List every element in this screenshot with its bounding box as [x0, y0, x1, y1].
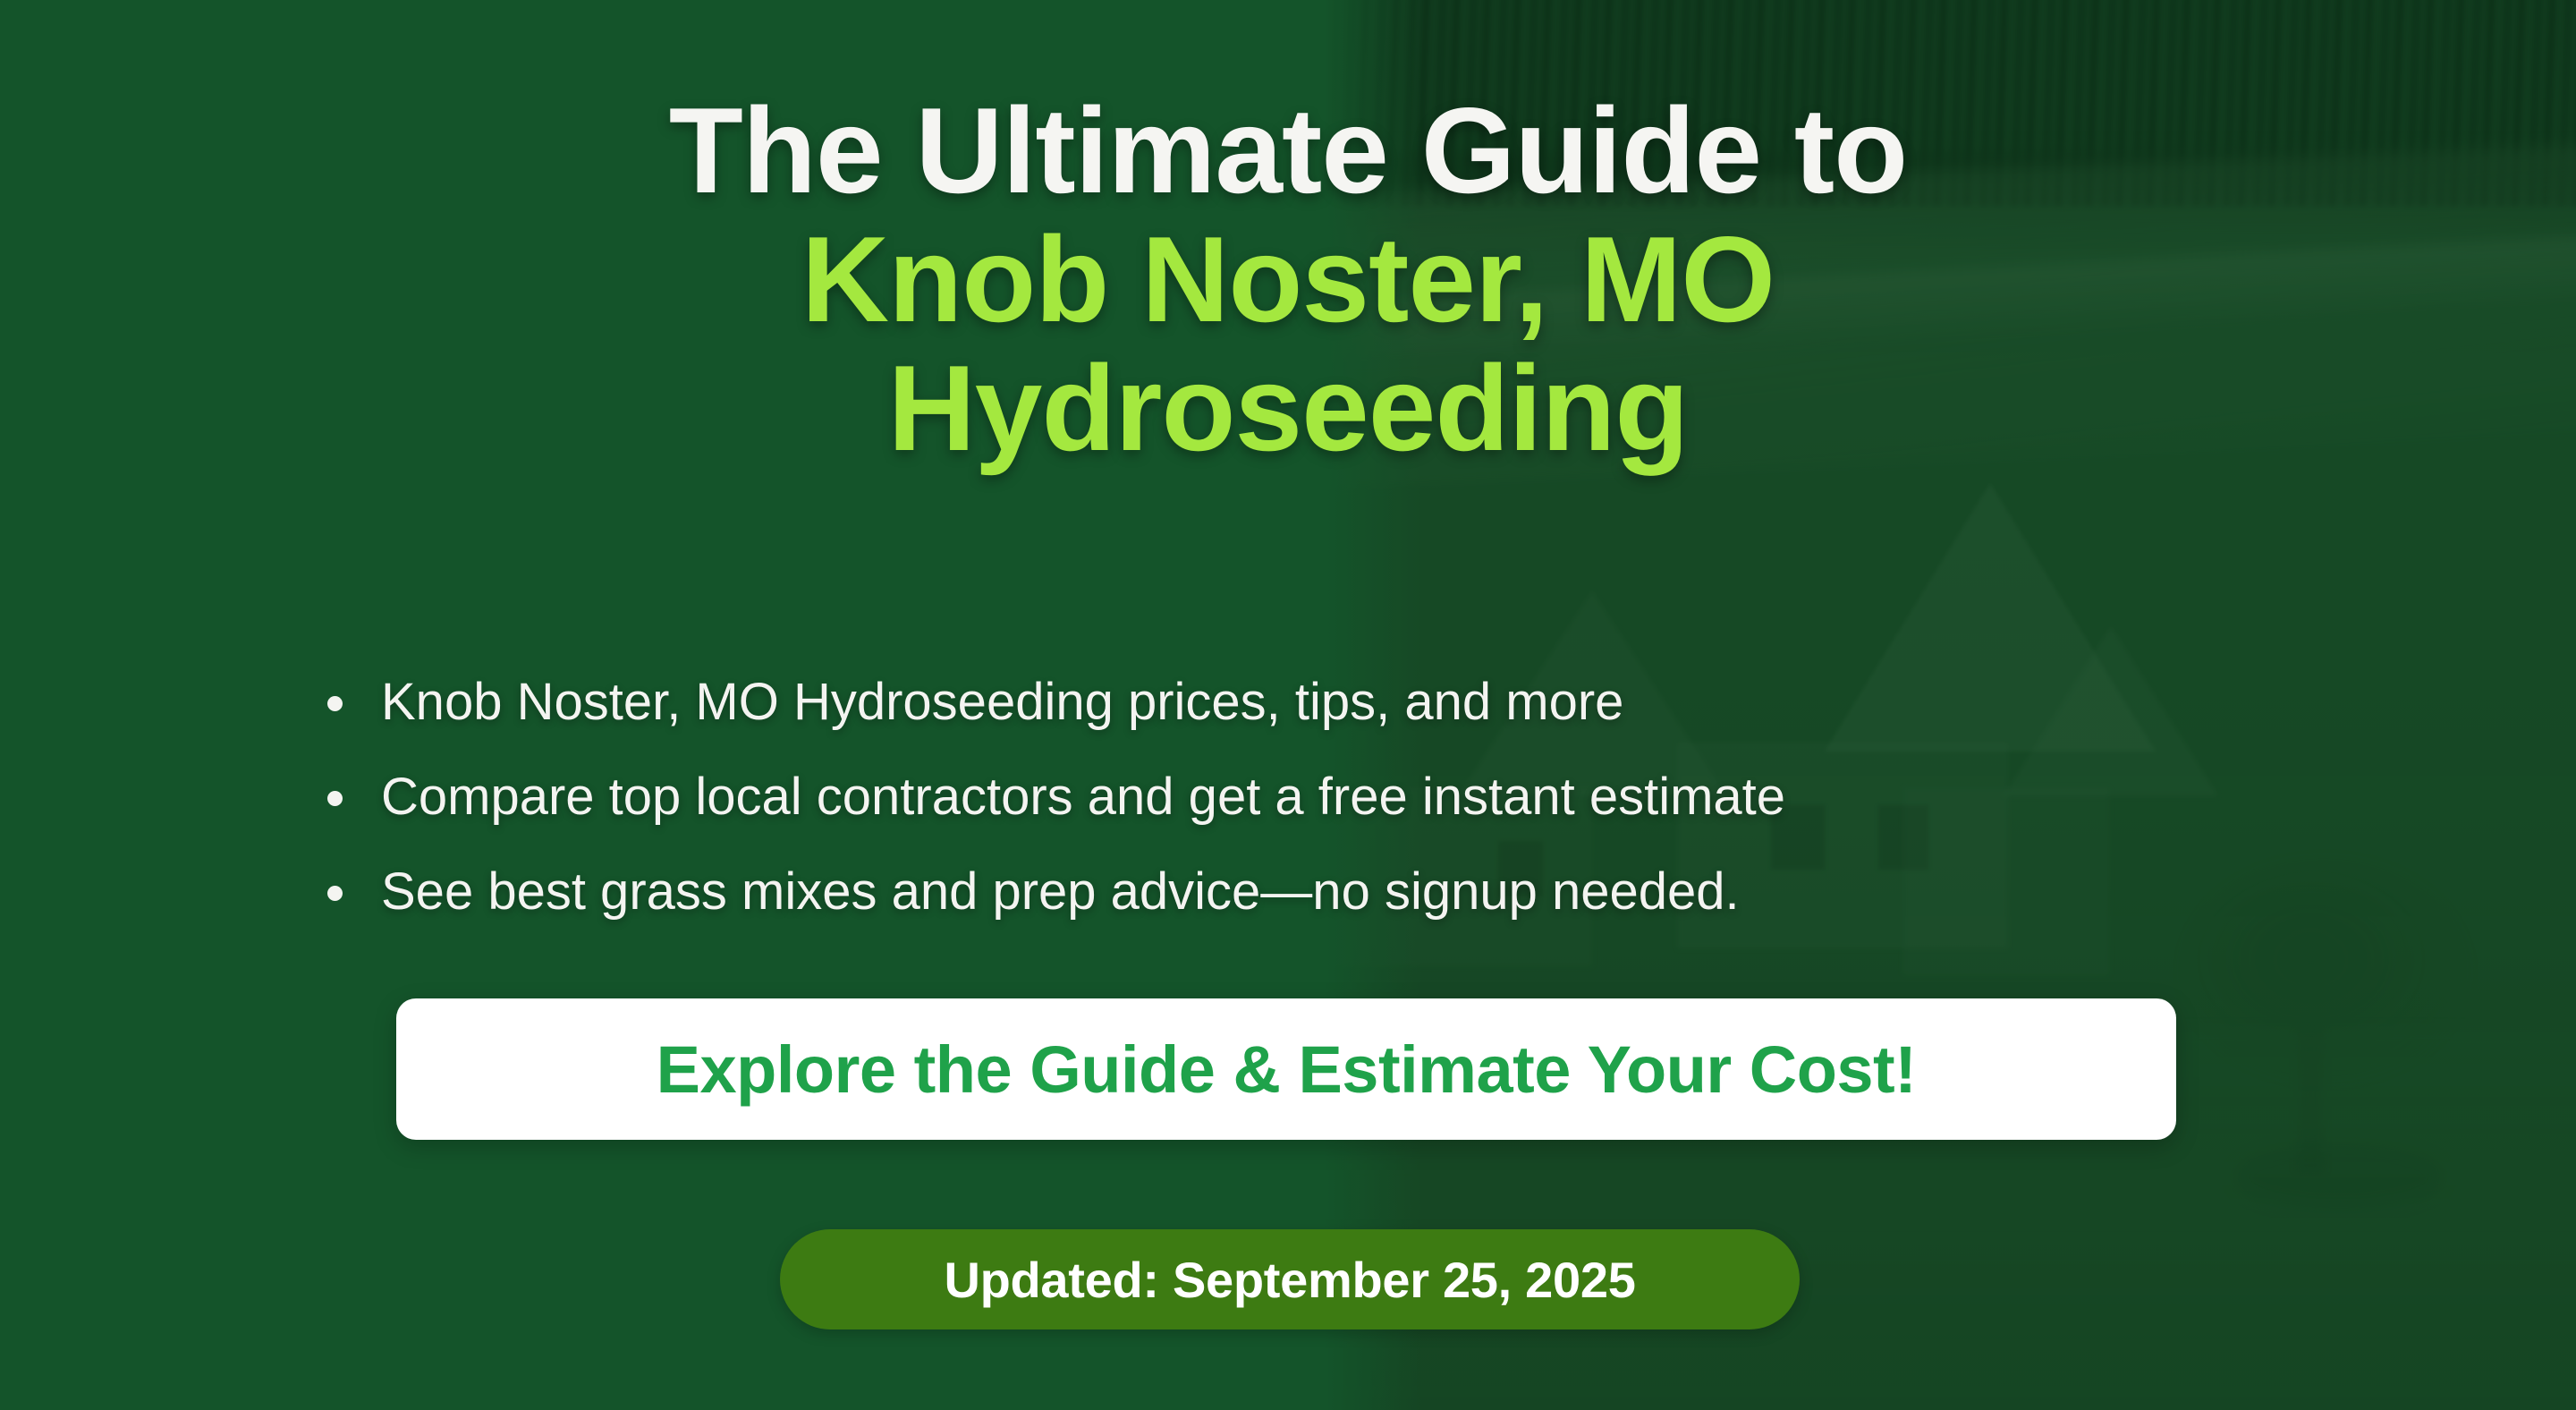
banner-content: The Ultimate Guide to Knob Noster, MO Hy…	[0, 0, 2576, 1410]
headline-line-3: Hydroseeding	[233, 344, 2343, 472]
hero-banner: The Ultimate Guide to Knob Noster, MO Hy…	[0, 0, 2576, 1410]
page-title: The Ultimate Guide to Knob Noster, MO Hy…	[0, 86, 2576, 472]
list-item: Compare top local contractors and get a …	[322, 771, 2290, 823]
explore-guide-cta-button[interactable]: Explore the Guide & Estimate Your Cost!	[396, 998, 2176, 1140]
benefits-list: Knob Noster, MO Hydroseeding prices, tip…	[322, 676, 2290, 961]
list-item: See best grass mixes and prep advice—no …	[322, 866, 2290, 918]
headline-line-2: Knob Noster, MO	[233, 215, 2343, 344]
headline-line-1: The Ultimate Guide to	[669, 82, 1907, 218]
list-item: Knob Noster, MO Hydroseeding prices, tip…	[322, 676, 2290, 728]
last-updated-badge: Updated: September 25, 2025	[780, 1229, 1800, 1329]
